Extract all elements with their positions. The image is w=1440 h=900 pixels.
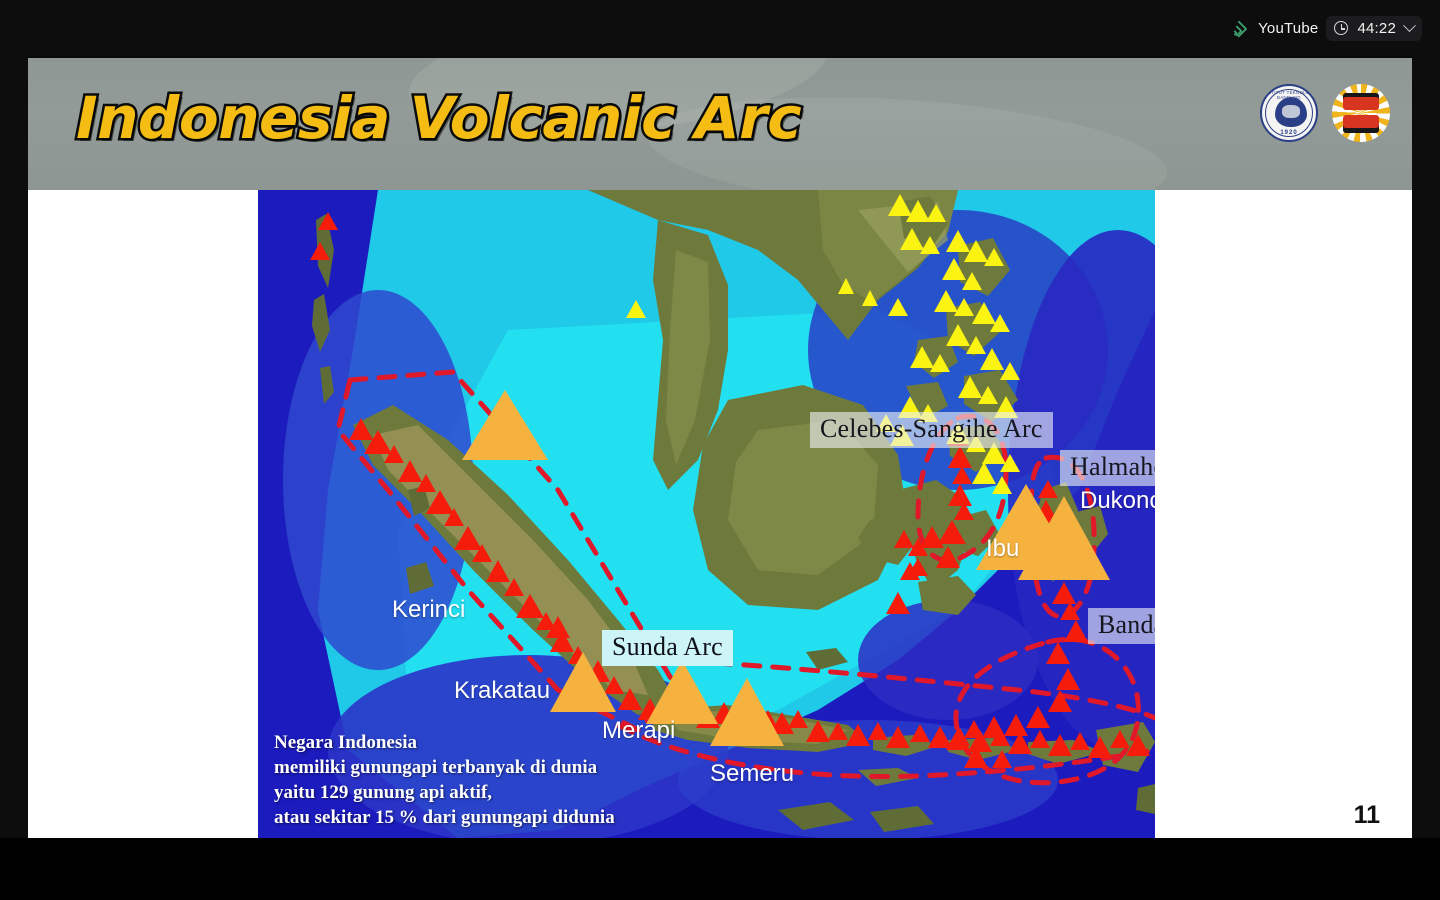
timer-group[interactable]: 44:22	[1326, 16, 1422, 41]
volcano-label-dukono: Dukono	[1080, 487, 1155, 515]
slide-page-number: 11	[1354, 801, 1380, 830]
volcano-label-krakatau: Krakatau	[454, 677, 550, 705]
volcano-label-kerinci: Kerinci	[392, 596, 465, 624]
secondary-logo	[1332, 84, 1390, 142]
letterbox-bottom	[0, 838, 1440, 900]
arc-label-banda: Banda Arc	[1088, 608, 1155, 644]
map-caption: Negara Indonesia memiliki gunungapi terb…	[274, 730, 615, 830]
letterbox-left	[0, 56, 28, 838]
arc-label-celebes-sangihe: Celebes-Sangihe Arc	[810, 412, 1053, 448]
caption-line-4: atau sekitar 15 % dari gunungapi didunia	[274, 805, 615, 830]
slide-header-band: Indonesia Volcanic Arc INSTITUT TEKNOLOG…	[28, 58, 1412, 190]
chevron-down-icon[interactable]	[1403, 19, 1416, 32]
presentation-slide[interactable]: Indonesia Volcanic Arc INSTITUT TEKNOLOG…	[28, 58, 1412, 838]
volcano-label-semeru: Semeru	[710, 760, 794, 788]
cast-status-group[interactable]: YouTube	[1224, 16, 1326, 41]
slide-body: Celebes-Sangihe Arc Halmahera Arc Banda …	[28, 190, 1412, 838]
page-title: Indonesia Volcanic Arc	[76, 84, 801, 152]
cast-app-label: YouTube	[1258, 20, 1318, 37]
logo-group: INSTITUT TEKNOLOGI BANDUNG 1920	[1260, 84, 1390, 142]
caption-line-3: yaitu 129 gunung api aktif,	[274, 780, 615, 805]
volcano-label-ibu: Ibu	[986, 535, 1019, 563]
caption-line-2: memiliki gunungapi terbanyak di dunia	[274, 755, 615, 780]
cast-icon	[1232, 21, 1249, 36]
arc-label-halmahera: Halmahera Arc	[1060, 450, 1155, 486]
caption-line-1: Negara Indonesia	[274, 730, 615, 755]
screen-root: YouTube 44:22 Indonesia Volcanic Arc INS…	[0, 0, 1440, 900]
clock-icon	[1334, 21, 1348, 35]
top-status-bar: YouTube 44:22	[0, 0, 1440, 56]
itb-logo: INSTITUT TEKNOLOGI BANDUNG 1920	[1260, 84, 1318, 142]
letterbox-right	[1412, 56, 1440, 838]
indonesia-volcanic-map: Celebes-Sangihe Arc Halmahera Arc Banda …	[258, 190, 1155, 838]
session-timer: 44:22	[1357, 20, 1396, 37]
itb-logo-year: 1920	[1262, 130, 1316, 136]
arc-label-sunda: Sunda Arc	[602, 630, 733, 666]
